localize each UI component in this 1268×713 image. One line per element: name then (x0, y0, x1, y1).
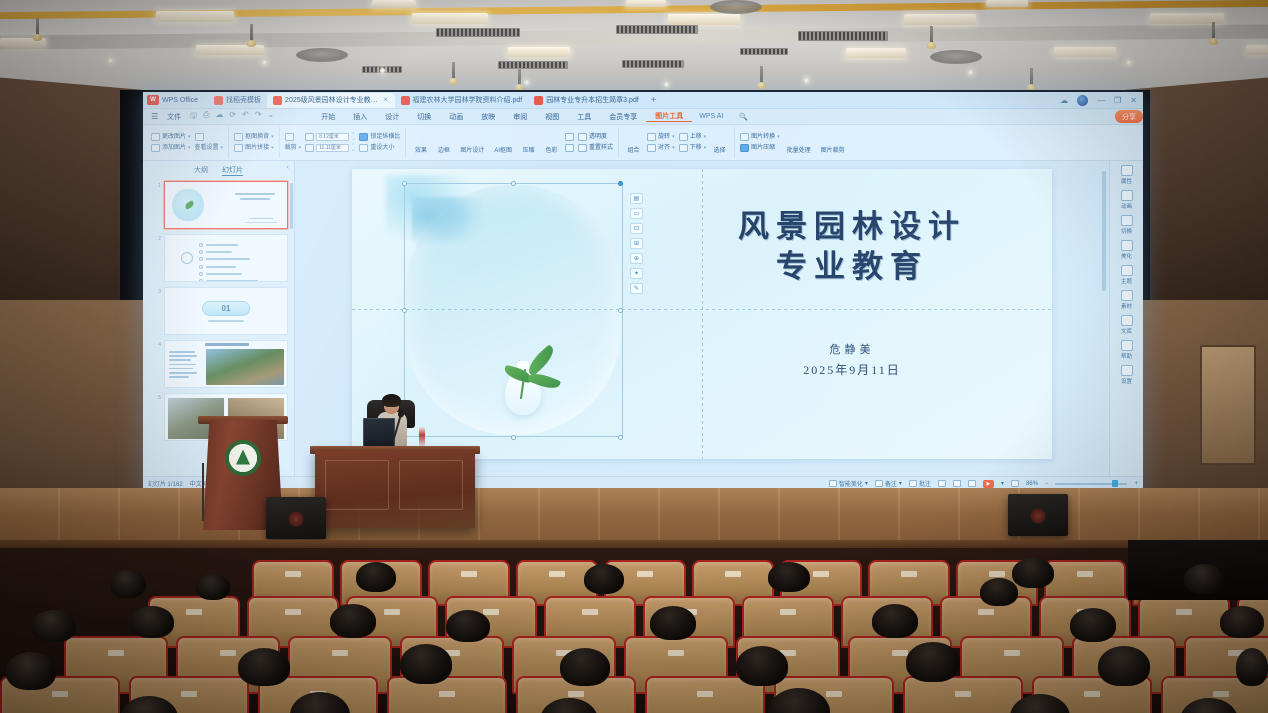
rail-label: 属性 (1121, 177, 1132, 185)
minimize-button[interactable]: — (1097, 96, 1105, 105)
transition-icon (1121, 215, 1133, 226)
btn-label: 锁定纵横比 (370, 133, 400, 141)
rail-properties[interactable]: 属性 (1121, 165, 1133, 185)
tab-insert[interactable]: 插入 (344, 112, 376, 122)
normal-view-icon (938, 480, 946, 487)
tab-tools[interactable]: 工具 (568, 112, 600, 122)
color-icon (545, 132, 558, 144)
ceiling-light (626, 0, 666, 7)
tab-review[interactable]: 审阅 (504, 112, 536, 122)
crop-icon (285, 133, 294, 141)
add-picture-button[interactable]: 添加图片 ▾ (151, 144, 191, 152)
smart-beautify-button[interactable]: 智能美化▾ (829, 479, 868, 488)
btn-label: 查看设置 (195, 144, 219, 152)
btn-label: 旋转 (658, 133, 670, 141)
seat (387, 676, 507, 713)
rail-label: 素材 (1121, 302, 1132, 310)
guide-vertical (702, 169, 703, 459)
app-menu-icon[interactable]: ☰ (147, 112, 162, 121)
btn-label: 图片转换 (751, 133, 775, 141)
thumbnail-number: 1 (155, 181, 161, 189)
tab-label: 园林专业专升本招生简章3.pdf (546, 95, 639, 105)
thumbnail-canvas[interactable] (164, 181, 288, 229)
audience-head (560, 648, 610, 686)
pendant-lamp (250, 24, 253, 42)
btn-label: 效果 (415, 145, 427, 154)
notes-button[interactable]: 备注▾ (875, 479, 902, 488)
ribbon-group-picture-extra: 图片转换 ▾ 图片压缩 批量处理 图片裁剪 (735, 127, 853, 158)
theme-icon (1121, 265, 1133, 276)
thumb-section-number: 01 (202, 301, 250, 316)
thumb-photo (206, 349, 284, 385)
air-vent (616, 25, 698, 34)
tab-template-store[interactable]: 找稻壳模板 (208, 93, 267, 108)
ceiling-spot (968, 70, 973, 75)
sync-icon[interactable]: ⟳ (229, 110, 236, 124)
lecture-hall-scene: W WPS Office 找稻壳模板 2025级风景园林设计专业教… ✕ 福建农… (0, 0, 1268, 713)
audience-head (1220, 606, 1264, 638)
view-sorter-button[interactable] (953, 480, 961, 487)
pendant-lamp (1212, 22, 1215, 40)
air-vent (740, 48, 788, 55)
slide-date[interactable]: 2025年9月11日 (682, 361, 1022, 378)
bring-forward-button[interactable]: 上移 ▾ (679, 133, 707, 141)
audience-head (1184, 564, 1224, 594)
ribbon-group-picture-source: 更改图片 ▾ 添加图片 ▾ 查看设置 ▾ (146, 127, 229, 158)
btn-label: 透明度 (589, 133, 607, 141)
audience-head (1236, 648, 1268, 686)
audience-head (1098, 646, 1150, 686)
ai-cutout-button[interactable]: AI抠图 (491, 132, 515, 154)
picture-height-input[interactable]: 8.12厘米 (316, 133, 349, 141)
zoom-icon[interactable]: ⊕ (630, 253, 643, 264)
audience-head (400, 644, 452, 684)
compress-icon (522, 132, 535, 144)
ai-icon[interactable]: ✎ (630, 283, 643, 294)
air-vent (436, 28, 520, 37)
btn-label: 选择 (714, 145, 726, 154)
undo-icon[interactable]: ↶ (242, 110, 249, 124)
audience-head (446, 610, 490, 642)
zoom-out-button[interactable]: − (1045, 481, 1049, 487)
rotate-button[interactable]: 旋转 ▾ (647, 133, 675, 141)
view-normal-button[interactable] (938, 480, 946, 487)
slide-title-line-2: 专业教育 (682, 247, 1022, 287)
play-slideshow-button[interactable]: ▶ (983, 480, 994, 488)
round-vent (710, 0, 762, 14)
round-vent (296, 48, 348, 62)
beautify-icon (829, 480, 837, 487)
play-dropdown[interactable]: ▾ (1001, 480, 1004, 487)
rail-label: 文库 (1121, 327, 1132, 335)
ceiling-light (668, 14, 740, 25)
width-spinner[interactable]: ⌃⌄ (351, 144, 355, 152)
tab-close-icon[interactable]: ✕ (383, 96, 389, 104)
microphone-stand (202, 463, 204, 521)
resize-handle-se[interactable] (618, 435, 623, 440)
btn-label: 压缩 (523, 145, 535, 154)
resize-handle-s[interactable] (511, 435, 516, 440)
right-tool-rail: 属性 动画 切换 美化 主题 (1109, 161, 1143, 490)
search-icon[interactable]: 🔍 (730, 113, 757, 121)
checkbox-checked-icon (359, 133, 368, 141)
height-field-wrap[interactable]: 8.12厘米 ⌃⌄ (316, 133, 355, 141)
seat-row-4 (0, 676, 1268, 713)
picture-design-icon (466, 132, 479, 144)
thumb-text-lines (169, 351, 199, 380)
pendant-lamp (452, 62, 455, 80)
change-picture-icon (151, 133, 160, 141)
zoom-in-button[interactable]: + (1134, 481, 1138, 487)
transparency-button[interactable]: 透明度 (578, 133, 613, 141)
chevron-down-icon: ▾ (704, 133, 707, 141)
close-button[interactable]: ✕ (1130, 96, 1137, 105)
align-icon (647, 144, 656, 152)
thumbnail-item-2[interactable]: 2 (155, 234, 288, 282)
btn-label: 对齐 (658, 144, 670, 152)
lock-aspect-ratio-checkbox[interactable]: 锁定纵横比 (359, 133, 400, 141)
water-bottle (419, 427, 425, 446)
ai-cutout-icon (497, 132, 510, 144)
round-vent (930, 50, 982, 64)
thumb-date-line (245, 222, 277, 224)
print-icon[interactable]: ⎙ (203, 110, 209, 124)
batch-process-icon (792, 132, 805, 144)
university-emblem (225, 440, 261, 476)
zoom-slider[interactable] (1055, 483, 1127, 485)
tab-member[interactable]: 会员专享 (600, 112, 646, 122)
border-button[interactable]: 边框 (434, 132, 453, 154)
thumbnail-item-3[interactable]: 3 01 (155, 287, 288, 335)
tab-picture-tools[interactable]: 图片工具 (646, 111, 692, 122)
btn-label: 添加图片 (162, 144, 186, 152)
pdf-file-icon (534, 96, 543, 105)
air-vent (622, 60, 684, 68)
ribbon-group-arrange: 组合 旋转 ▾ 对齐 ▾ (619, 127, 735, 158)
change-picture-button[interactable]: 更改图片 ▾ (151, 133, 191, 141)
chevron-left-icon[interactable]: ‹ (287, 164, 289, 171)
rail-label: 美化 (1121, 252, 1132, 260)
bring-forward-icon (679, 133, 688, 141)
audience-head (1012, 558, 1054, 588)
chevron-down-icon: ▾ (188, 133, 191, 141)
thumbnail-number: 5 (155, 393, 161, 401)
ribbon-group-size: 裁剪 ▾ 8.12厘米 ⌃⌄ 11.1 (280, 127, 407, 158)
picture-preview-icon-button[interactable] (195, 133, 224, 141)
transparency-icon (578, 133, 587, 141)
audience-head (906, 642, 960, 682)
rotate-left-icon (565, 144, 574, 152)
rotate-left-button[interactable] (565, 144, 574, 152)
slide-title[interactable]: 风景园林设计 专业教育 (682, 207, 1022, 287)
rotate-right-icon (565, 133, 574, 141)
wps-ai-button[interactable]: WPS AI (692, 113, 730, 120)
chevron-down-icon: ▾ (271, 144, 274, 152)
cloud-status-icon[interactable]: ☁ (1060, 96, 1068, 105)
btn-label: 下移 (690, 144, 702, 152)
audience-head (110, 570, 146, 598)
ceiling-light (508, 47, 570, 57)
audience-head (130, 606, 174, 638)
ceiling-spot (524, 80, 529, 85)
avatar[interactable] (1077, 95, 1088, 106)
pendant-lamp (760, 66, 763, 84)
speaker-desk (315, 450, 475, 528)
seat (903, 676, 1023, 713)
thumb-section-caption (208, 320, 244, 322)
align-button[interactable]: 对齐 ▾ (647, 144, 675, 152)
tab-design[interactable]: 设计 (376, 112, 408, 122)
audience-head (330, 604, 376, 638)
tab-slides[interactable]: 幻灯片 (222, 165, 243, 176)
tab-label: 找稻壳模板 (226, 95, 261, 105)
thumbnail-item-1[interactable]: 1 (155, 181, 288, 229)
audience-head (196, 574, 230, 600)
btn-label: 批量处理 (787, 145, 811, 154)
rail-label: 设置 (1121, 377, 1132, 385)
btn-label: 色彩 (546, 145, 558, 154)
color-button[interactable]: 色彩 (542, 132, 561, 154)
tab-animation[interactable]: 动画 (440, 112, 472, 122)
picture-convert-button[interactable]: 图片转换 ▾ (740, 133, 780, 141)
chevron-down-icon: ▾ (672, 144, 675, 152)
btn-label: 上移 (690, 133, 702, 141)
remove-background-button[interactable]: 抠图换背 ▾ (234, 133, 274, 141)
pendant-lamp (518, 68, 521, 86)
group-icon (627, 132, 640, 144)
thumb-heading-line (205, 343, 249, 346)
btn-label: 组合 (628, 145, 640, 154)
picture-crop-tool-button[interactable]: 图片裁剪 (818, 132, 848, 154)
selection-pane-icon (713, 132, 726, 144)
properties-icon (1121, 165, 1133, 176)
add-picture-icon (151, 144, 160, 152)
fill-icon[interactable]: ▤ (630, 193, 643, 204)
preview-icon (195, 133, 204, 141)
effects-button[interactable]: 效果 (411, 132, 430, 154)
template-icon (214, 96, 223, 105)
air-vent (798, 31, 888, 41)
zoom-level[interactable]: 86% (1026, 481, 1038, 487)
picture-compress-button[interactable]: 图片压缩 (740, 144, 780, 152)
rail-label: 帮助 (1121, 352, 1132, 360)
panel-scrollbar[interactable] (290, 183, 293, 229)
btn-label: 图片设计 (460, 145, 484, 154)
file-menu[interactable]: 文件 (162, 112, 186, 122)
audience-head (1070, 608, 1116, 642)
more-icon[interactable]: ⌄ (268, 110, 275, 124)
audience-head (356, 562, 396, 592)
thumbnail-canvas[interactable]: 01 (164, 287, 288, 335)
air-vent (498, 61, 568, 69)
save-icon[interactable]: 🖫 (190, 110, 197, 124)
tab-label: 福建农林大学园林学院资料介绍.pdf (413, 95, 523, 105)
tab-view[interactable]: 视图 (536, 112, 568, 122)
tab-presentation-active[interactable]: 2025级风景园林设计专业教… ✕ (267, 93, 394, 108)
chevron-down-icon: ▾ (221, 144, 224, 152)
effects-icon (414, 132, 427, 144)
ribbon-group-picture-style: 效果 边框 图片设计 AI抠图 压缩 (406, 127, 619, 158)
btn-label: 重设大小 (370, 144, 394, 152)
border-icon (437, 132, 450, 144)
wps-brand-label: WPS Office (162, 97, 198, 104)
quick-access-toolbar: 🖫 ⎙ ☁ ⟳ ↶ ↷ ⌄ (186, 110, 282, 124)
view-settings-button[interactable]: 查看设置 ▾ (195, 144, 224, 152)
notes-icon (875, 480, 883, 487)
resize-handle-nw[interactable] (402, 181, 407, 186)
rail-theme[interactable]: 主题 (1121, 265, 1133, 285)
rail-help[interactable]: 帮助 (1121, 340, 1133, 360)
chevron-down-icon: ▾ (299, 144, 302, 152)
audience-head (584, 564, 624, 594)
restore-button[interactable]: ❐ (1114, 96, 1121, 105)
audience-head (32, 610, 76, 642)
rail-transition[interactable]: 切换 (1121, 215, 1133, 235)
assets-icon (1121, 290, 1133, 301)
wps-menu-bar: ☰ 文件 🖫 ⎙ ☁ ⟳ ↶ ↷ ⌄ 开始 插入 设计 切换 动画 放映 审阅 … (143, 109, 1143, 125)
animation-icon (1121, 190, 1133, 201)
fit-window-button[interactable] (1011, 480, 1019, 487)
width-icon (305, 144, 314, 152)
thumbnail-canvas[interactable] (164, 340, 288, 388)
crop-icon[interactable]: ⊡ (630, 223, 643, 234)
rail-library[interactable]: 文库 (1121, 315, 1133, 335)
selection-pane-button[interactable]: 选择 (710, 132, 729, 154)
rail-settings[interactable]: 设置 (1121, 365, 1133, 385)
comments-label: 批注 (919, 479, 931, 488)
ceiling (0, 0, 1268, 96)
notes-label: 备注 (885, 479, 897, 488)
ppt-file-icon (273, 96, 282, 105)
ceiling-light (846, 48, 906, 58)
tab-pdf-1[interactable]: 福建农林大学园林学院资料介绍.pdf (395, 93, 529, 108)
ceiling-spot (664, 82, 669, 87)
tab-outline[interactable]: 大纲 (194, 165, 208, 176)
ceiling-spot (1126, 60, 1131, 65)
btn-label: 更改图片 (162, 133, 186, 141)
ceiling-light (904, 14, 976, 25)
btn-label: 图片拼接 (245, 144, 269, 152)
btn-label: 图片裁剪 (821, 145, 845, 154)
reset-size-icon (359, 144, 368, 152)
effects-icon[interactable]: ✦ (630, 268, 643, 279)
loudspeaker-right (1008, 494, 1068, 536)
pendant-lamp (1030, 68, 1033, 86)
comments-button[interactable]: 批注 (909, 479, 931, 488)
floating-image-toolbar: ▤ ▭ ⊡ ⊞ ⊕ ✦ ✎ (630, 193, 643, 294)
reset-style-icon (578, 144, 587, 152)
picture-design-button[interactable]: 图片设计 (457, 132, 487, 154)
audience-head (768, 562, 810, 592)
help-icon (1121, 340, 1133, 351)
audience-head (872, 604, 918, 638)
reset-style-button[interactable]: 重置样式 (578, 144, 613, 152)
slide-author[interactable]: 危静美 (682, 341, 1022, 357)
desk-panel (399, 460, 463, 510)
group-button[interactable]: 组合 (624, 132, 643, 154)
rotate-right-button[interactable] (565, 133, 574, 141)
thumb-badge (181, 252, 193, 264)
collage-icon (234, 144, 243, 152)
ribbon-tabs: 开始 插入 设计 切换 动画 放映 审阅 视图 工具 会员专享 图片工具 WPS… (312, 111, 757, 122)
audience-head (980, 578, 1018, 606)
thumbnail-number: 2 (155, 234, 161, 242)
tab-transition[interactable]: 切换 (408, 112, 440, 122)
cloud-icon[interactable]: ☁ (215, 110, 223, 124)
send-backward-button[interactable]: 下移 ▾ (679, 144, 707, 152)
canvas-scrollbar[interactable] (1102, 171, 1106, 291)
rail-animation[interactable]: 动画 (1121, 190, 1133, 210)
tab-start[interactable]: 开始 (312, 112, 344, 122)
btn-label: 边框 (438, 145, 450, 154)
ceiling-light (372, 0, 416, 8)
batch-process-button[interactable]: 批量处理 (784, 132, 814, 154)
redo-icon[interactable]: ↷ (255, 110, 262, 124)
crop-shape-button[interactable]: 裁剪 ▾ (285, 144, 302, 152)
rail-beautify[interactable]: 美化 (1121, 240, 1133, 260)
side-door (1200, 345, 1256, 465)
slide-editing-area: 风景园林设计 专业教育 危静美 2025年9月11日 (295, 161, 1109, 490)
picture-crop-icon (826, 132, 839, 144)
tab-slideshow[interactable]: 放映 (472, 112, 504, 122)
resize-handle-ne[interactable] (618, 181, 623, 186)
wps-logo-icon: W (147, 95, 159, 105)
ceiling-light (156, 11, 234, 22)
window-controls: ☁ — ❐ ✕ (1060, 95, 1143, 106)
ceiling-spot (380, 68, 385, 73)
height-spinner[interactable]: ⌃⌄ (351, 133, 355, 141)
new-tab-button[interactable]: + (645, 95, 663, 106)
audience-head (650, 606, 696, 640)
btn-label: AI抠图 (494, 145, 512, 154)
wps-tab-bar: W WPS Office 找稻壳模板 2025级风景园林设计专业教… ✕ 福建农… (143, 92, 1143, 109)
library-icon (1121, 315, 1133, 326)
thumb-bullet-list (199, 243, 258, 282)
reset-size-button[interactable]: 重设大小 (359, 144, 400, 152)
rail-assets[interactable]: 素材 (1121, 290, 1133, 310)
share-button[interactable]: 分享 (1115, 110, 1143, 123)
layout-icon[interactable]: ⊞ (630, 238, 643, 249)
width-field-wrap[interactable]: 11.11厘米 ⌃⌄ (316, 144, 355, 152)
picture-collage-button[interactable]: 图片拼接 ▾ (234, 144, 274, 152)
panel-tabs: 大纲 幻灯片 (143, 163, 294, 179)
current-slide[interactable]: 风景园林设计 专业教育 危静美 2025年9月11日 (352, 169, 1052, 459)
height-icon (305, 133, 314, 141)
picture-width-input[interactable]: 11.11厘米 (316, 144, 349, 152)
thumbnail-number: 3 (155, 287, 161, 295)
picture-compress-icon (740, 144, 749, 152)
comment-icon (909, 480, 917, 487)
audience-head (6, 652, 56, 690)
crop-button[interactable] (285, 133, 302, 141)
resize-handle-n[interactable] (511, 181, 516, 186)
width-row: 11.11厘米 ⌃⌄ (305, 144, 355, 152)
view-reading-button[interactable] (968, 480, 976, 487)
picture-convert-icon (740, 133, 749, 141)
compress-button[interactable]: 压缩 (519, 132, 538, 154)
zoom-slider-knob[interactable] (1112, 480, 1118, 487)
thumbnail-item-4[interactable]: 4 (155, 340, 288, 388)
thumb-author-line (249, 218, 273, 220)
tab-pdf-2[interactable]: 园林专业专升本招生简章3.pdf (528, 93, 645, 108)
chevron-down-icon: ▾ (777, 133, 780, 141)
outline-icon[interactable]: ▭ (630, 208, 643, 219)
ceiling-spot (262, 60, 267, 65)
pendant-lamp (36, 18, 39, 36)
slide-sorter-icon (953, 480, 961, 487)
btn-label: 抠图换背 (245, 133, 269, 141)
thumbnail-canvas[interactable] (164, 234, 288, 282)
